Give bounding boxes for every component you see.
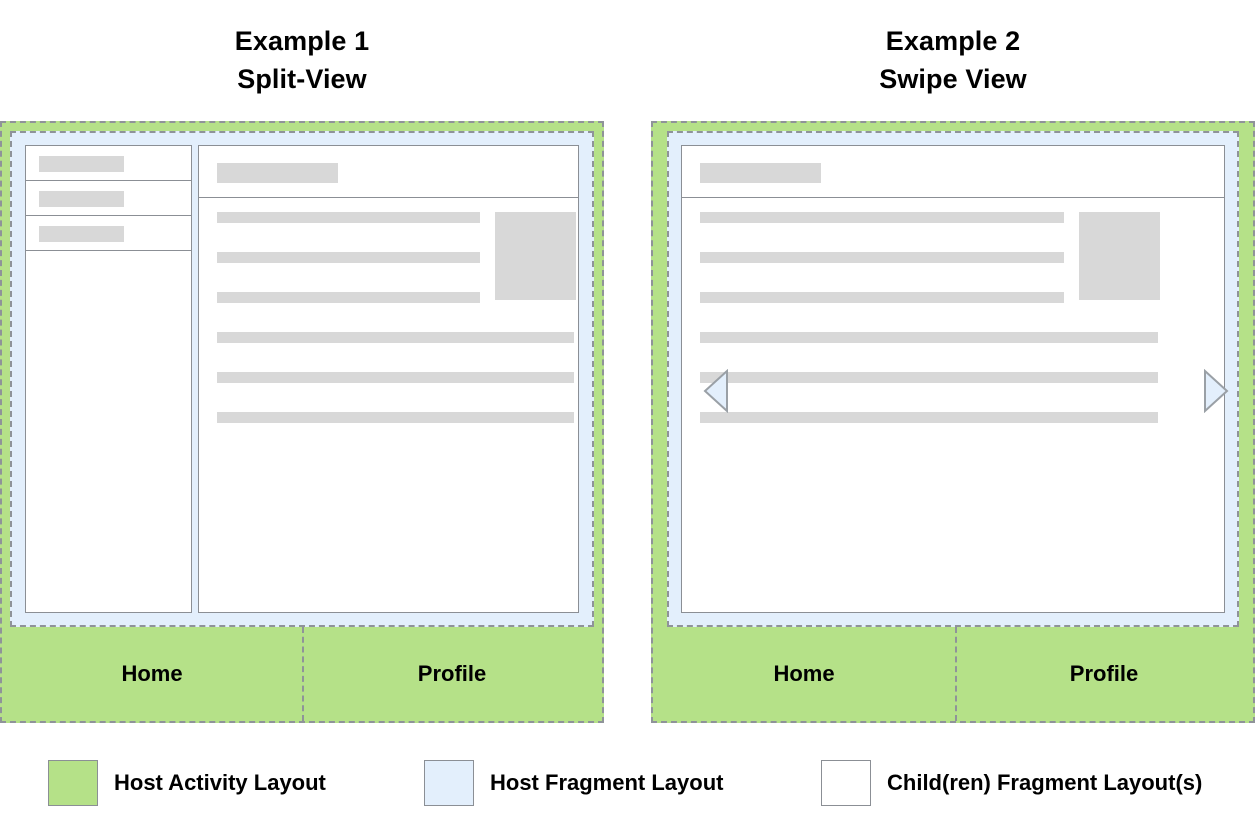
nav-tab-home-label: Home — [121, 661, 182, 687]
legend-item-host-activity-layout: Host Activity Layout — [48, 752, 326, 814]
detail-image-placeholder — [495, 212, 576, 300]
example-1-host-fragment-layout — [10, 131, 594, 627]
detail-header-placeholder-bar — [217, 163, 338, 183]
list-item-placeholder-bar — [39, 226, 124, 242]
legend-label-host-fragment-layout: Host Fragment Layout — [490, 770, 723, 796]
swipe-text-bar — [700, 292, 1064, 303]
list-child-fragment-layout — [25, 145, 192, 613]
nav-tab-profile-label: Profile — [1070, 661, 1138, 687]
example-1-title-line-2: Split-View — [0, 60, 604, 98]
detail-text-bar — [217, 412, 574, 423]
nav-tab-profile-label: Profile — [418, 661, 486, 687]
swipe-pane-header — [682, 146, 1224, 198]
example-2-bottom-navigation: Home Profile — [653, 627, 1253, 721]
example-1-host-activity-layout: Home Profile — [0, 121, 604, 723]
legend-item-host-fragment-layout: Host Fragment Layout — [424, 752, 723, 814]
swipe-image-placeholder — [1079, 212, 1160, 300]
list-item-placeholder-bar — [39, 191, 124, 207]
example-1-title: Example 1 Split-View — [0, 22, 604, 99]
detail-text-bar — [217, 372, 574, 383]
example-2-title-line-1: Example 2 — [651, 22, 1255, 60]
detail-child-fragment-layout — [198, 145, 579, 613]
detail-pane-body — [199, 198, 578, 572]
example-1-title-line-1: Example 1 — [0, 22, 604, 60]
legend-swatch-host-activity-layout — [48, 760, 98, 806]
example-2-host-fragment-layout — [667, 131, 1239, 627]
detail-text-bar — [217, 212, 480, 223]
swipe-text-bar — [700, 332, 1158, 343]
legend-item-child-fragment-layout: Child(ren) Fragment Layout(s) — [821, 752, 1202, 814]
legend-label-child-fragment-layout: Child(ren) Fragment Layout(s) — [887, 770, 1202, 796]
legend-swatch-child-fragment-layout — [821, 760, 871, 806]
nav-tab-profile[interactable]: Profile — [302, 627, 602, 721]
swipe-text-bar — [700, 372, 1158, 383]
legend: Host Activity Layout Host Fragment Layou… — [0, 752, 1255, 814]
example-2-host-activity-layout: Home Profile — [651, 121, 1255, 723]
legend-swatch-host-fragment-layout — [424, 760, 474, 806]
legend-label-host-activity-layout: Host Activity Layout — [114, 770, 326, 796]
list-item-placeholder-bar — [39, 156, 124, 172]
swipe-child-fragment-layout — [681, 145, 1225, 613]
swipe-header-placeholder-bar — [700, 163, 821, 183]
list-item[interactable] — [26, 181, 191, 216]
swipe-text-bar — [700, 412, 1158, 423]
detail-pane-header — [199, 146, 578, 198]
detail-text-bar — [217, 252, 480, 263]
detail-text-bar — [217, 332, 574, 343]
nav-tab-home[interactable]: Home — [2, 627, 302, 721]
example-2-title: Example 2 Swipe View — [651, 22, 1255, 99]
nav-tab-home-label: Home — [773, 661, 834, 687]
nav-tab-profile[interactable]: Profile — [955, 627, 1253, 721]
nav-tab-home[interactable]: Home — [653, 627, 955, 721]
list-item[interactable] — [26, 146, 191, 181]
example-2-title-line-2: Swipe View — [651, 60, 1255, 98]
swipe-pane-body — [682, 198, 1224, 572]
list-item[interactable] — [26, 216, 191, 251]
swipe-text-bar — [700, 212, 1064, 223]
swipe-text-bar — [700, 252, 1064, 263]
detail-text-bar — [217, 292, 480, 303]
example-1-bottom-navigation: Home Profile — [2, 627, 602, 721]
